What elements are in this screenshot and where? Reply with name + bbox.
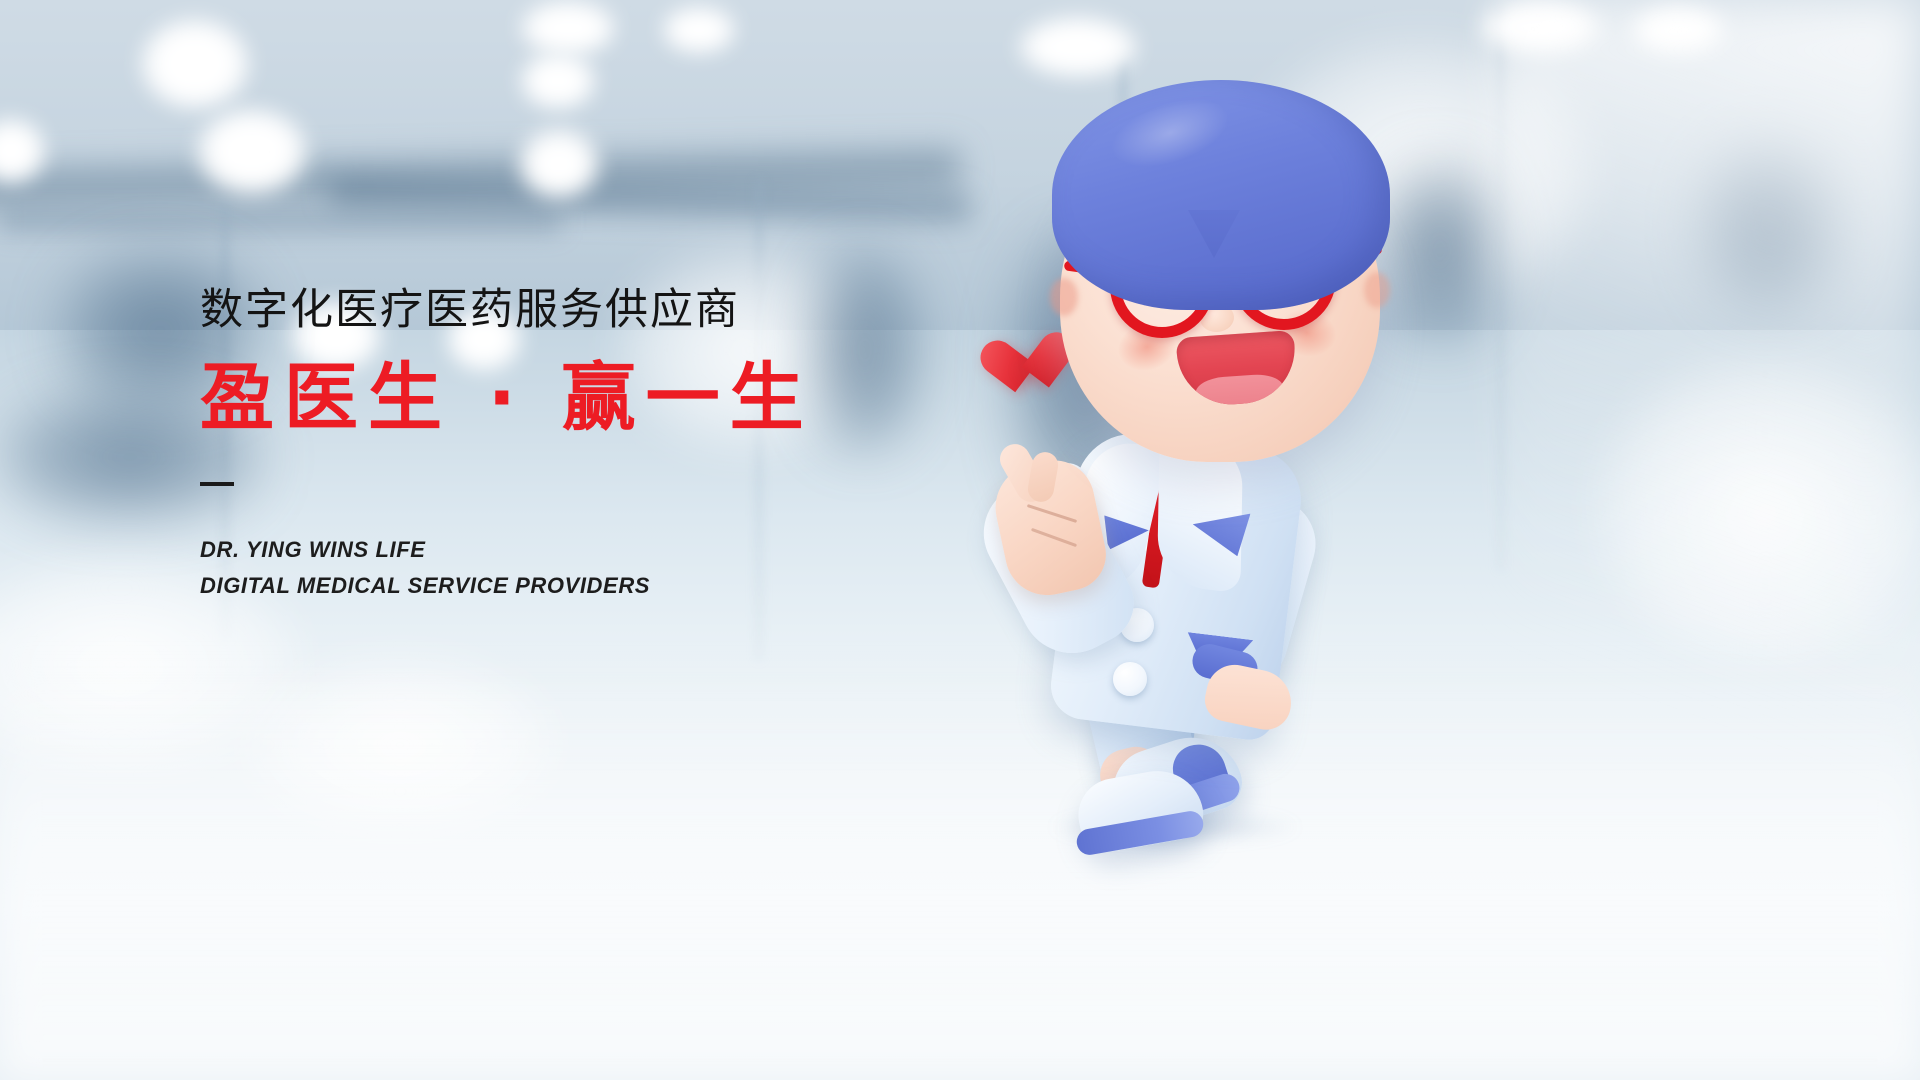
ceiling-light-bokeh (662, 6, 736, 54)
doctor-mascot (960, 42, 1480, 842)
english-line-2: DIGITAL MEDICAL SERVICE PROVIDERS (200, 568, 960, 604)
hero-english-block: DR. YING WINS LIFE DIGITAL MEDICAL SERVI… (200, 532, 960, 603)
ceiling-light-bokeh (518, 128, 600, 200)
hero-banner: 数字化医疗医药服务供应商 盈医生 · 赢一生 DR. YING WINS LIF… (0, 0, 1920, 1080)
ceiling-light-bokeh (140, 18, 250, 110)
window-light (1500, 0, 1920, 760)
ceiling-beam-3 (0, 210, 560, 232)
heart-icon (980, 336, 1049, 402)
divider-dash (200, 482, 234, 486)
coat-button-bottom (1113, 662, 1147, 696)
ear-inner-right (1364, 272, 1390, 308)
ceiling-light-bokeh (520, 0, 616, 56)
hero-subtitle-cn: 数字化医疗医药服务供应商 (200, 286, 960, 335)
english-line-1: DR. YING WINS LIFE (200, 532, 960, 568)
hero-headline-cn: 盈医生 · 赢一生 (200, 357, 960, 440)
ceiling-light-bokeh (520, 52, 596, 110)
hero-text-block: 数字化医疗医药服务供应商 盈医生 · 赢一生 DR. YING WINS LIF… (200, 286, 960, 604)
ceiling-light-bokeh (196, 108, 308, 196)
ear-inner-left (1050, 278, 1078, 316)
